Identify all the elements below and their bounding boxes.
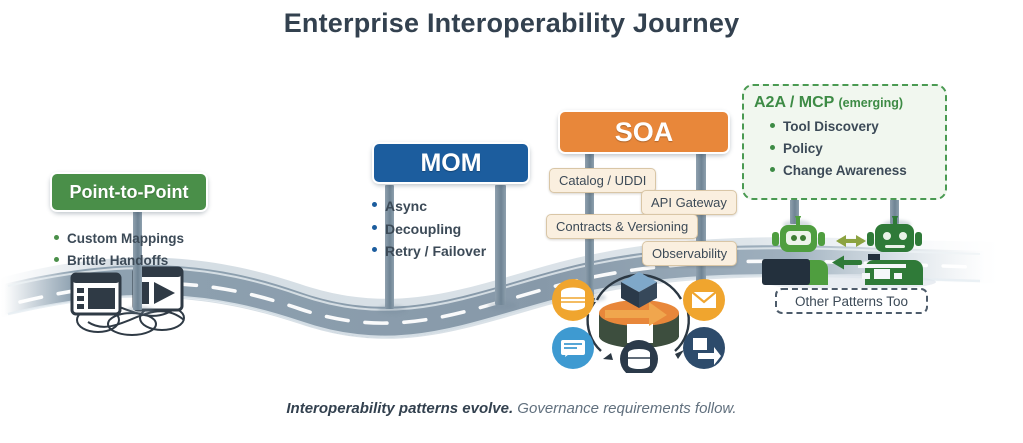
agent-robots-illustration [762, 216, 942, 293]
page-title: Enterprise Interoperability Journey [0, 8, 1023, 39]
diagram-canvas: Enterprise Interoperability Journey [0, 0, 1023, 443]
badge-other-patterns[interactable]: Other Patterns Too [775, 288, 928, 314]
sign-mom[interactable]: MOM [372, 142, 530, 184]
transfer-node-icon [683, 327, 725, 369]
bullet-item: Brittle Handoffs [52, 250, 184, 272]
service-hub-cluster [543, 258, 733, 378]
sign-point-to-point[interactable]: Point-to-Point [50, 172, 208, 212]
bullet-item: Tool Discovery [768, 116, 949, 138]
chip-api-gateway[interactable]: API Gateway [641, 190, 737, 215]
bidirectional-arrow-icon [836, 235, 866, 247]
bullets-a2a: Tool Discovery Policy Change Awareness [768, 116, 949, 182]
panel-title-text: A2A / MCP [754, 94, 834, 111]
bullet-item: Custom Mappings [52, 228, 184, 250]
bullet-item: Async [370, 195, 486, 218]
left-arrow-icon [832, 256, 862, 270]
bullet-item: Decoupling [370, 218, 486, 241]
message-node-icon [683, 279, 725, 321]
bullets-mom: Async Decoupling Retry / Failover [370, 195, 486, 263]
bullet-item: Policy [768, 138, 949, 160]
panel-title-a2a: A2A / MCP (emerging) [754, 94, 935, 112]
panel-a2a-mcp[interactable]: A2A / MCP (emerging) Tool Discovery Poli… [742, 84, 947, 200]
footer-caption: Interoperability patterns evolve. Govern… [0, 400, 1023, 417]
chip-contracts-versioning[interactable]: Contracts & Versioning [546, 214, 698, 239]
chip-catalog-uddi[interactable]: Catalog / UDDI [549, 168, 656, 193]
sign-post-mom-right [495, 185, 506, 305]
sign-label-soa: SOA [558, 110, 730, 154]
window-app-icon [72, 274, 120, 314]
footer-bold: Interoperability patterns evolve. [286, 400, 513, 417]
chat-node-icon [552, 327, 594, 369]
footer-light: Governance requirements follow. [513, 400, 736, 417]
bullet-item: Change Awareness [768, 160, 949, 182]
sign-soa[interactable]: SOA [558, 110, 730, 154]
bullets-point-to-point: Custom Mappings Brittle Handoffs [52, 228, 184, 272]
sign-label-mom: MOM [372, 142, 530, 184]
sign-label-point-to-point: Point-to-Point [50, 172, 208, 212]
panel-title-suffix: (emerging) [838, 96, 903, 110]
bullet-item: Retry / Failover [370, 240, 486, 263]
database-node-icon [552, 279, 594, 321]
